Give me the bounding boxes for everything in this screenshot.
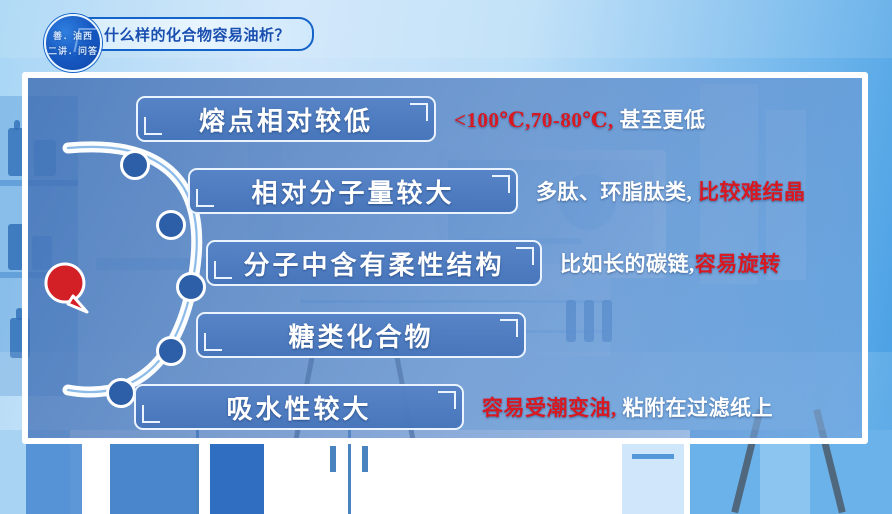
corner-bracket-top-right <box>438 391 456 409</box>
row-1-chip[interactable]: 熔点相对较低 <box>136 96 436 142</box>
screenshot-root: 善．油西 二讲．问答 什么样的化合物容易油析？ 熔点相对较低 <box>0 0 892 514</box>
row-2-note: 多肽、环脂肽类, 比较难结晶 <box>536 176 806 206</box>
cabinet-handle <box>330 446 336 472</box>
brand-logo-icon: 善．油西 二讲．问答 <box>44 14 102 72</box>
row-2-note-part-1: 多肽、环脂肽类, <box>536 180 692 204</box>
row-1-note-part-1: <100℃,70-80℃, <box>454 108 614 132</box>
row-2-note-part-2: 比较难结晶 <box>692 180 805 204</box>
row-4-label: 糖类化合物 <box>288 317 433 354</box>
corner-bracket-bottom-left <box>196 189 214 207</box>
corner-bracket-top-right <box>500 319 518 337</box>
row-1-note-part-2: 甚至更低 <box>614 108 706 132</box>
header-bar: 善．油西 二讲．问答 什么样的化合物容易油析？ <box>44 14 314 54</box>
row-3: 分子中含有柔性结构 比如长的碳链,容易旋转 <box>206 240 781 286</box>
row-4: 糖类化合物 <box>196 312 526 358</box>
timeline-node-2[interactable] <box>156 210 186 240</box>
row-5-note-part-2: 粘附在过滤纸上 <box>617 396 773 420</box>
content-panel: 熔点相对较低 <100℃,70-80℃, 甚至更低 相对分子量较大 多肽、环脂肽… <box>22 72 868 444</box>
corner-bracket-bottom-left <box>204 333 222 351</box>
row-5-note: 容易受潮变油, 粘附在过滤纸上 <box>482 392 773 422</box>
cabinet-block <box>26 444 82 514</box>
row-3-chip[interactable]: 分子中含有柔性结构 <box>206 240 542 286</box>
corner-bracket-bottom-left <box>144 117 162 135</box>
cabinet-handle <box>362 446 368 472</box>
logo-line-1: 善．油西 <box>46 29 100 42</box>
row-5-label: 吸水性较大 <box>226 389 371 426</box>
timeline-node-4[interactable] <box>156 336 186 366</box>
logo-line-2: 二讲．问答 <box>46 44 100 57</box>
row-3-label: 分子中含有柔性结构 <box>243 245 504 282</box>
cabinet-block <box>622 440 684 514</box>
timeline-node-5[interactable] <box>106 378 136 408</box>
row-2-label: 相对分子量较大 <box>251 173 454 210</box>
row-2: 相对分子量较大 多肽、环脂肽类, 比较难结晶 <box>188 168 806 214</box>
row-4-chip[interactable]: 糖类化合物 <box>196 312 526 358</box>
corner-bracket-top-right <box>516 247 534 265</box>
row-3-note-part-1: 比如长的碳链, <box>560 252 695 276</box>
row-3-note-part-2: 容易旋转 <box>695 252 781 276</box>
row-1-note: <100℃,70-80℃, 甚至更低 <box>454 104 706 134</box>
corner-bracket-top-right <box>492 175 510 193</box>
cabinet-block <box>110 444 196 514</box>
cabinet-block <box>210 444 264 514</box>
row-3-note: 比如长的碳链,容易旋转 <box>560 248 781 278</box>
cabinet-block <box>760 444 810 514</box>
row-1: 熔点相对较低 <100℃,70-80℃, 甚至更低 <box>136 96 706 142</box>
timeline-node-3[interactable] <box>176 272 206 302</box>
bottle-neck <box>14 120 20 130</box>
row-5: 吸水性较大 容易受潮变油, 粘附在过滤纸上 <box>134 384 773 430</box>
row-5-chip[interactable]: 吸水性较大 <box>134 384 464 430</box>
corner-bracket-bottom-left <box>142 405 160 423</box>
timeline-node-1[interactable] <box>120 150 150 180</box>
cabinet-handle <box>632 454 674 459</box>
row-2-chip[interactable]: 相对分子量较大 <box>188 168 518 214</box>
page-title: 什么样的化合物容易油析？ <box>104 24 290 45</box>
red-location-pin-icon[interactable] <box>40 258 94 318</box>
row-5-note-part-1: 容易受潮变油, <box>482 396 617 420</box>
corner-bracket-bottom-left <box>214 261 232 279</box>
row-1-label: 熔点相对较低 <box>199 101 373 138</box>
corner-bracket-top-right <box>410 103 428 121</box>
